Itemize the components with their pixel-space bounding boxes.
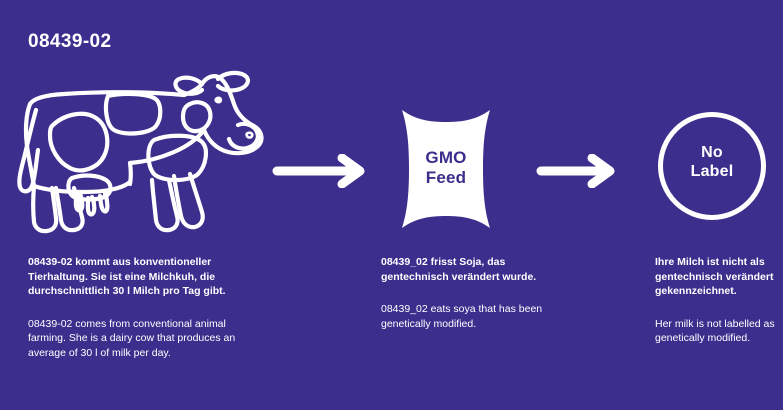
cow-icon [12, 62, 274, 242]
caption-label-en: Her milk is not labelled as genetically … [655, 299, 775, 346]
gmo-feed-bag: GMO Feed [390, 104, 502, 234]
arrow-right-icon-2 [536, 154, 618, 188]
caption-column-feed: 08439_02 frisst Soja, das gentechnisch v… [381, 255, 551, 331]
arrow-right-icon-1 [272, 154, 368, 188]
cow-illustration [12, 62, 274, 242]
caption-column-cow: 08439-02 kommt aus konventioneller Tierh… [28, 255, 253, 360]
caption-cow-en: 08439-02 comes from conventional animal … [28, 299, 253, 361]
infographic-canvas: 08439-02 [0, 0, 783, 410]
no-label-circle-outline [658, 112, 766, 220]
feed-bag-icon [390, 104, 502, 234]
caption-row: 08439-02 kommt aus konventioneller Tierh… [0, 255, 783, 375]
caption-cow-de: 08439-02 kommt aus konventioneller Tierh… [28, 255, 253, 299]
illustration-row: GMO Feed No Label [0, 58, 783, 243]
caption-label-de: Ihre Milch ist nicht als gentechnisch ve… [655, 255, 775, 299]
caption-feed-de: 08439_02 frisst Soja, das gentechnisch v… [381, 255, 551, 284]
caption-column-label: Ihre Milch ist nicht als gentechnisch ve… [655, 255, 775, 346]
no-label-badge: No Label [658, 112, 766, 220]
caption-feed-en: 08439_02 eats soya that has been genetic… [381, 284, 551, 331]
page-title: 08439-02 [28, 31, 112, 53]
